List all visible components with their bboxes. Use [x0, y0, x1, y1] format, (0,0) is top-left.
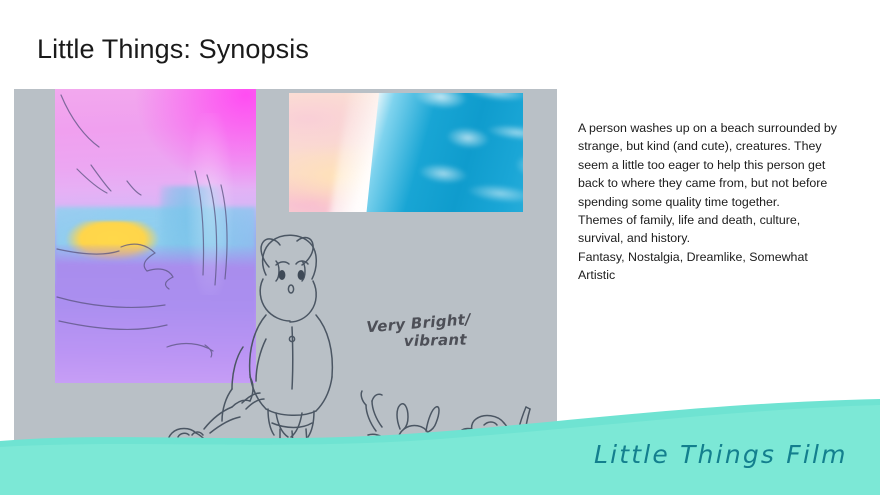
page-title: Little Things: Synopsis — [37, 32, 309, 66]
annotation-line-2: vibrant — [403, 328, 527, 351]
synopsis-paragraph-1: A person washes up on a beach surrounded… — [578, 119, 844, 211]
slide: Little Things: Synopsis — [0, 0, 880, 495]
footer-brand-text: Little Things Film — [594, 440, 848, 469]
synopsis-text: A person washes up on a beach surrounded… — [578, 119, 844, 285]
synopsis-paragraph-2: Themes of family, life and death, cultur… — [578, 211, 844, 248]
synopsis-paragraph-3: Fantasy, Nostalgia, Dreamlike, Somewhat … — [578, 248, 844, 285]
